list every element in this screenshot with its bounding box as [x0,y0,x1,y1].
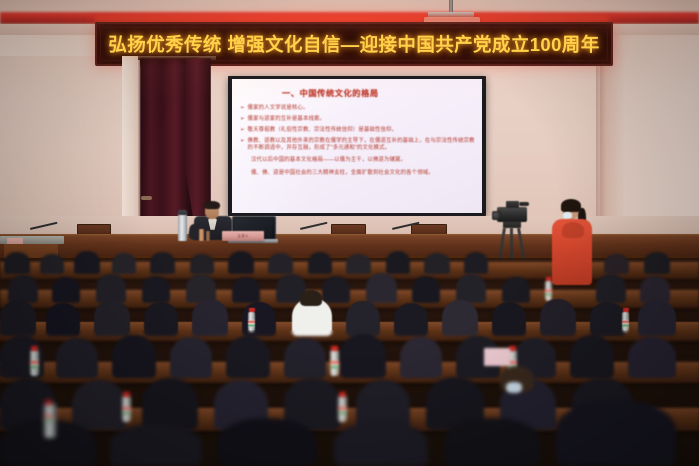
audience-person [400,337,442,378]
audience-person [192,299,228,336]
bullet-text: 儒家与道家的互补是基本线索。 [248,116,326,123]
audience-person [366,273,397,303]
audience-person [590,302,625,336]
audience-person [112,335,156,378]
tripod-head [503,221,521,228]
audience-person [638,300,676,336]
slide-bullet: ➢ 儒家与道家的互补是基本线索。 [240,116,476,123]
camera-microphone-icon [519,202,529,206]
slide-paragraph: 儒、佛、道是中国社会的三大精神支柱，全面扩散到社会文化的各个领域。 [240,170,476,178]
slide-paragraph: 汉代以后中国的基本文化格局——以儒为主干，以佛道为辅翼。 [240,157,476,165]
desk-bottle [199,229,204,241]
audience-person [142,378,198,430]
speaker-glasses-icon [206,208,219,212]
slide-bullet: ➢ 敬天尊祖教（礼俗性宗教、宗法性传统信仰）是基础性信仰。 [240,127,476,134]
camera-lens-icon [492,211,501,220]
water-bottle [545,281,552,301]
projection-screen: 一、中国传统文化的格局 ➢ 儒家的人文学说是核心。 ➢ 儒家与道家的互补是基本线… [232,79,482,213]
audience-person [268,253,293,274]
audience-person [386,251,410,274]
bullet-text: 佛教、道教以及其他外来的宗教在儒学的主导下，在儒道互补的基础上，在与宗法性传统宗… [248,138,476,152]
audience-person [424,253,450,274]
audience-person [394,303,428,336]
audience-person [0,300,36,336]
nameplate-text: 主讲人 [237,234,248,239]
head-table [0,236,699,258]
conference-hall-photo: 弘扬优秀传统 增强文化自信—迎接中国共产党成立100周年 一、中国传统文化的格局… [0,0,699,466]
foreground-person [334,422,428,466]
audience-person [8,275,38,303]
paper-handout [484,348,510,366]
audience-person [46,303,80,336]
audience-person [40,254,64,274]
audience-person [4,252,30,274]
water-bottle [30,350,39,376]
audience-person [142,276,170,303]
video-camera-icon [497,207,527,222]
audience-person [640,276,670,303]
audience-person [628,337,676,378]
bullet-marker-icon: ➢ [240,127,245,134]
audience-person [112,253,136,274]
audience-person [464,252,488,274]
audience-person [228,251,254,274]
audience-head [300,290,322,306]
foreground-person [444,418,540,466]
audience-person [570,335,614,378]
foreground-person [110,424,202,466]
bullet-text: 敬天尊祖教（礼俗性宗教、宗法性传统信仰）是基础性信仰。 [248,127,398,134]
audience-person [190,254,214,274]
slide-title: 一、中国传统文化的格局 [282,87,379,99]
water-bottle [122,396,131,422]
banner-text: 弘扬优秀传统 增强文化自信—迎接中国共产党成立100周年 [108,31,599,57]
audience-person [540,299,576,336]
audience-person [74,251,100,274]
water-bottle [44,404,56,438]
audience-person [412,276,440,303]
audience-person [644,252,670,274]
audience-person [308,252,332,274]
speaker-nameplate: 主讲人 [222,231,264,241]
thermos-cap [178,210,187,215]
bullet-marker-icon: ➢ [240,138,245,152]
audience-person [442,300,478,336]
audience-person [226,336,270,378]
audience-person [284,338,326,378]
audience-person [322,276,350,303]
bullet-marker-icon: ➢ [240,105,245,112]
water-bottle [330,350,339,376]
audience-person [144,302,178,336]
audience-person [150,252,175,274]
audience-person [604,254,629,274]
audience-person [170,337,212,378]
audience-person [340,334,386,378]
camera-viewfinder [506,201,519,208]
right-wall-column [600,0,699,240]
audience-person [492,302,526,336]
desk-bottle [206,231,210,241]
audience-person [346,301,380,336]
audience-person [56,338,98,378]
water-bottle [248,312,255,332]
face-mask-icon [563,212,572,219]
slide-body: ➢ 儒家的人文学说是核心。 ➢ 儒家与道家的互补是基本线索。 ➢ 敬天尊祖教（礼… [240,105,476,178]
hoodie-hood [562,222,584,238]
audience-person [346,254,371,274]
water-bottle [622,312,629,332]
foreground-person [218,418,316,466]
audience-person [456,274,486,303]
audience-person [52,277,80,303]
face-mask-icon [506,382,522,393]
audience-person [96,274,126,303]
foreground-person [556,400,676,466]
audience-person [94,300,130,336]
slide-bullet: ➢ 佛教、道教以及其他外来的宗教在儒学的主导下，在儒道互补的基础上，在与宗法性传… [240,138,476,152]
water-bottle [338,396,347,422]
bullet-marker-icon: ➢ [240,116,245,123]
curtain-tieback [141,196,152,200]
slide-bullet: ➢ 儒家的人文学说是核心。 [240,105,476,112]
audience-person [502,277,530,303]
audience-person [596,274,626,303]
thermos-flask [178,213,187,241]
audience-person [72,380,126,430]
audience-person [232,277,260,303]
bullet-text: 儒家的人文学说是核心。 [248,105,309,112]
